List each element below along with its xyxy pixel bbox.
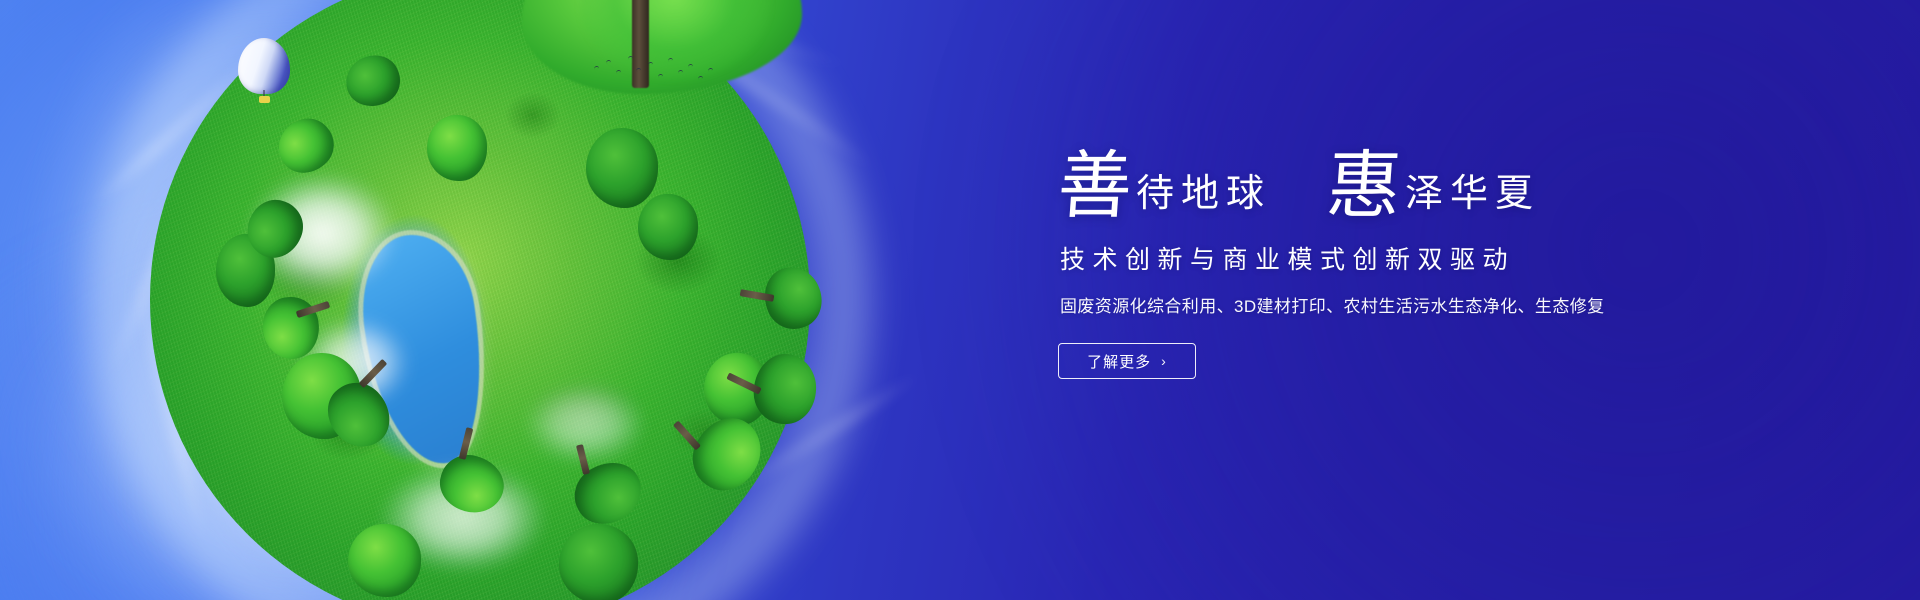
headline-brush-char-1: 善 xyxy=(1056,152,1135,220)
bird-icon xyxy=(708,68,713,72)
bird-icon xyxy=(658,74,663,78)
bird-icon xyxy=(698,76,703,80)
tree xyxy=(638,194,697,260)
bird-icon xyxy=(606,60,611,64)
bird-icon xyxy=(628,56,633,60)
hero-copy: 善 待地球 惠 泽华夏 技术创新与商业模式创新双驱动 固废资源化综合利用、3D建… xyxy=(1058,130,1798,379)
headline-plain-2: 泽华夏 xyxy=(1405,174,1540,220)
learn-more-label: 了解更多 xyxy=(1087,351,1151,372)
planet-cloud xyxy=(520,379,665,478)
hero-banner: 善 待地球 惠 泽华夏 技术创新与商业模式创新双驱动 固废资源化综合利用、3D建… xyxy=(0,0,1920,600)
headline-brush-char-2: 惠 xyxy=(1325,152,1404,220)
chevron-right-icon: › xyxy=(1161,354,1167,368)
page-title: 善 待地球 惠 泽华夏 xyxy=(1058,130,1798,220)
bird-icon xyxy=(668,58,673,62)
learn-more-button[interactable]: 了解更多 › xyxy=(1058,343,1196,379)
bird-icon xyxy=(688,64,693,68)
bird-icon xyxy=(636,68,641,72)
hero-subtitle: 技术创新与商业模式创新双驱动 xyxy=(1060,240,1798,276)
tree xyxy=(348,524,421,597)
bird-icon xyxy=(616,70,621,74)
hero-description: 固废资源化综合利用、3D建材打印、农村生活污水生态净化、生态修复 xyxy=(1060,292,1798,317)
tree xyxy=(559,524,638,600)
bird-flock xyxy=(592,52,722,92)
tree xyxy=(427,115,486,181)
hot-air-balloon xyxy=(238,38,290,102)
bird-icon xyxy=(594,66,599,70)
bird-icon xyxy=(678,70,683,74)
balloon-basket xyxy=(259,96,270,103)
headline-plain-1: 待地球 xyxy=(1136,174,1271,220)
tree xyxy=(586,128,659,207)
bird-icon xyxy=(648,62,653,66)
balloon-envelope xyxy=(238,38,290,94)
